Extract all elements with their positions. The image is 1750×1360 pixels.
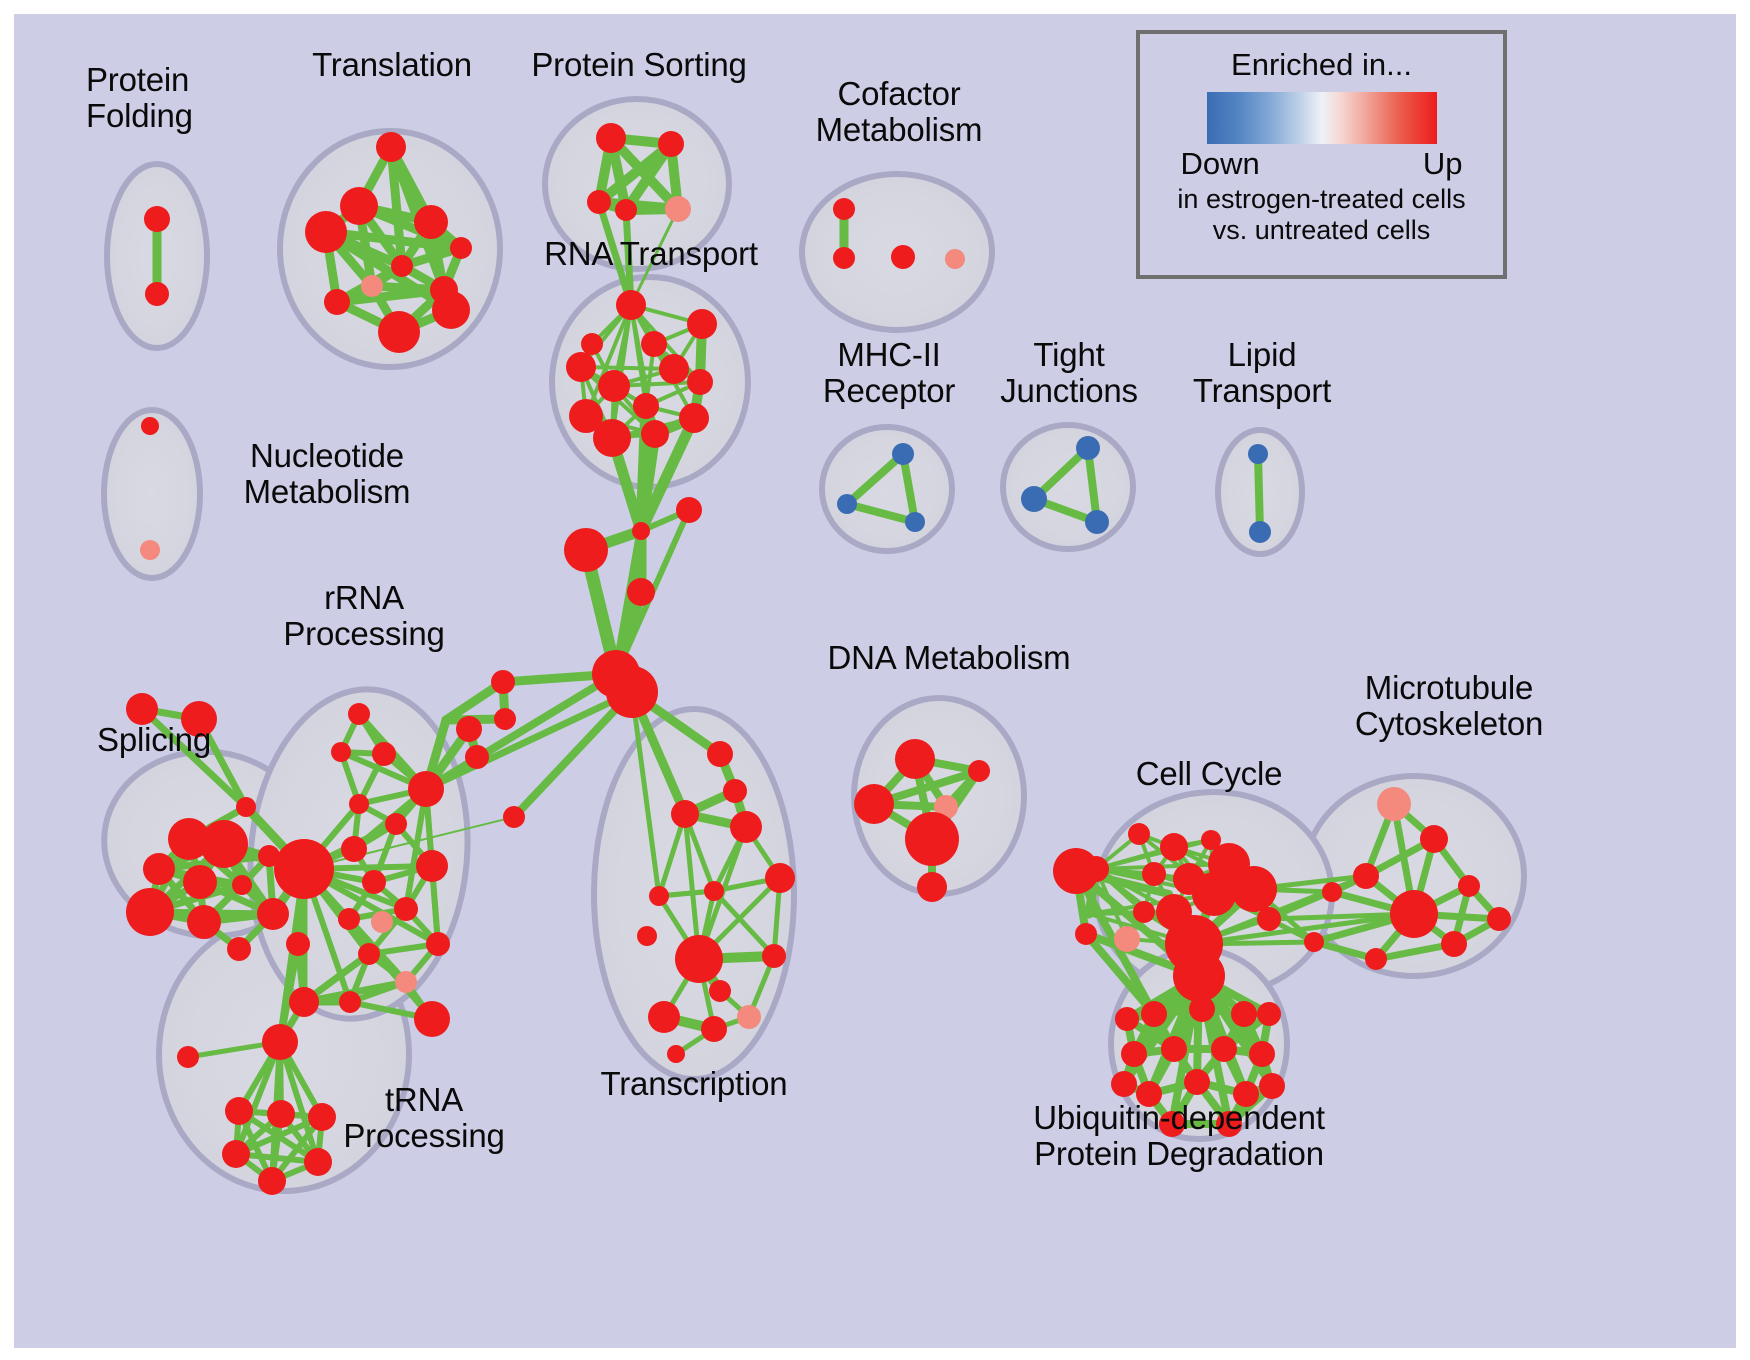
hull-tight-junctions [1003, 425, 1133, 549]
cluster-label-nucleotide-metabolism: Nucleotide Metabolism [202, 438, 452, 509]
cluster-label-splicing: Splicing [59, 722, 249, 758]
cluster-label-cell-cycle: Cell Cycle [1109, 756, 1309, 792]
hull-mhc-ii-receptor [822, 427, 952, 551]
cluster-label-transcription: Transcription [569, 1066, 819, 1102]
cluster-label-tight-junctions: Tight Junctions [969, 337, 1169, 408]
cluster-label-trna-processing: tRNA Processing [309, 1082, 539, 1153]
cluster-label-protein-folding: Protein Folding [86, 62, 286, 133]
cluster-label-protein-sorting: Protein Sorting [494, 47, 784, 83]
cluster-label-translation: Translation [272, 47, 512, 83]
cluster-label-dna-metabolism: DNA Metabolism [814, 640, 1084, 676]
legend-caption-line2: vs. untreated cells [1177, 215, 1465, 246]
cluster-label-lipid-transport: Lipid Transport [1162, 337, 1362, 408]
legend-down-label: Down [1181, 146, 1260, 182]
cluster-label-microtubule-cytoskeleton: Microtubule Cytoskeleton [1299, 670, 1599, 741]
legend-endpoints: Down Up [1177, 146, 1467, 182]
legend-caption: in estrogen-treated cells vs. untreated … [1177, 184, 1465, 246]
figure-root: Protein Folding Translation Protein Sort… [0, 0, 1750, 1360]
cluster-label-rrna-processing: rRNA Processing [254, 580, 474, 651]
legend-caption-line1: in estrogen-treated cells [1177, 184, 1465, 215]
legend-panel: Enriched in... Down Up in estrogen-treat… [1136, 30, 1507, 279]
cluster-label-ubiquitin-degradation: Ubiquitin-dependent Protein Degradation [989, 1100, 1369, 1171]
legend-up-label: Up [1423, 146, 1463, 182]
cluster-label-rna-transport: RNA Transport [506, 236, 796, 272]
cluster-label-cofactor-metabolism: Cofactor Metabolism [774, 76, 1024, 147]
cluster-label-mhc-ii-receptor: MHC-II Receptor [784, 337, 994, 408]
legend-color-gradient-bar [1207, 92, 1437, 144]
legend-title: Enriched in... [1231, 47, 1412, 83]
network-canvas: Protein Folding Translation Protein Sort… [14, 14, 1736, 1348]
